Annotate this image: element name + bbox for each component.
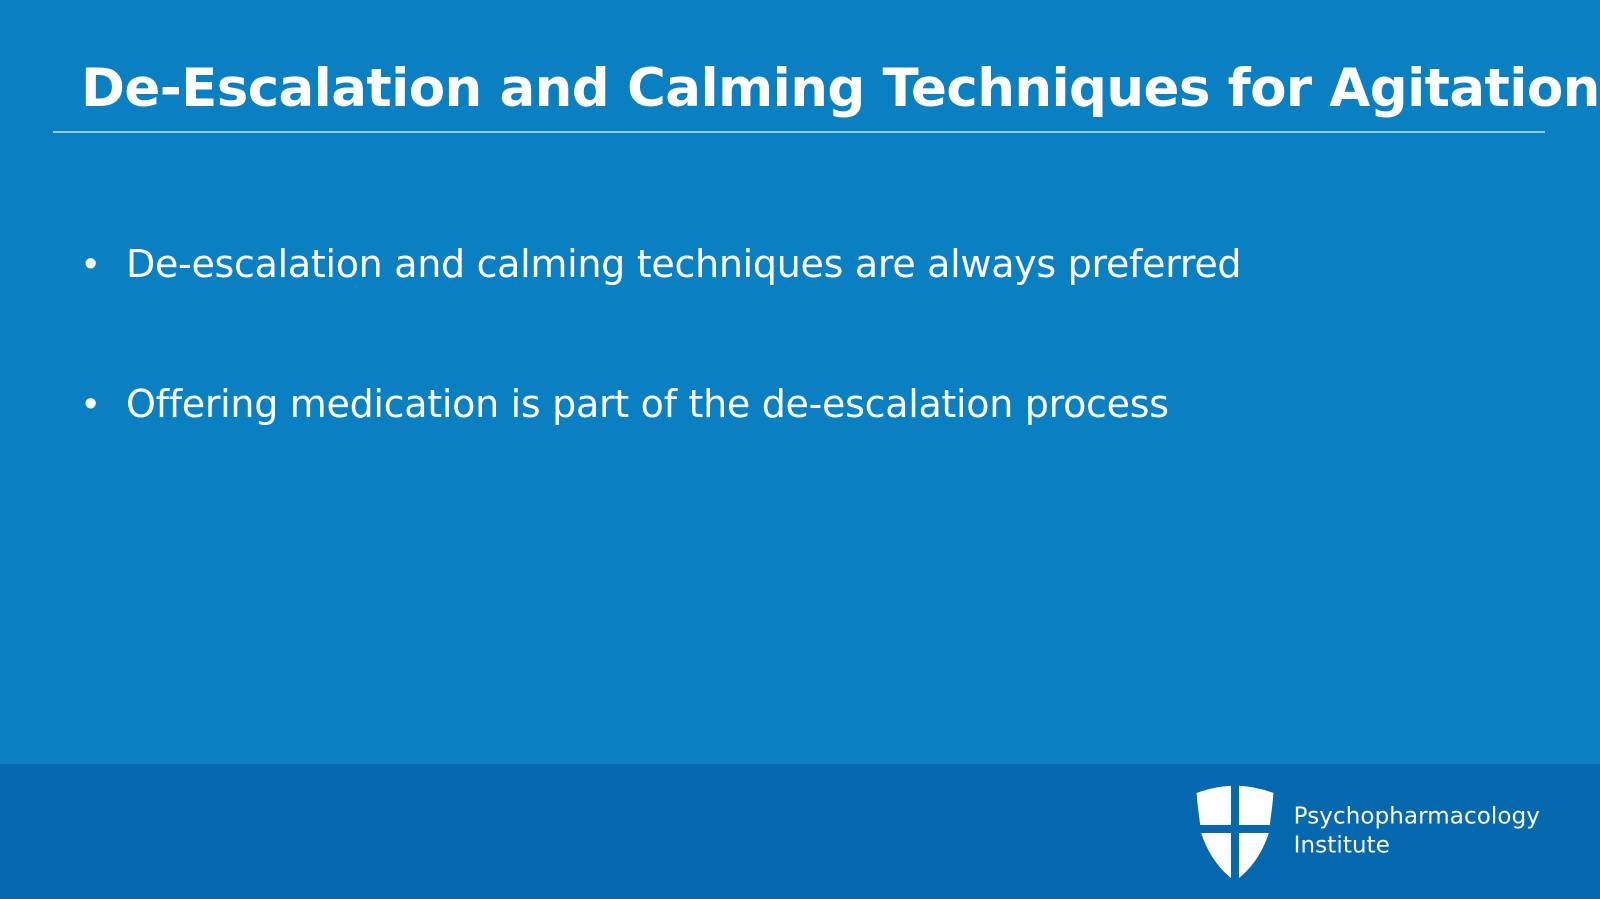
- list-item: • Offering medication is part of the de-…: [78, 378, 1538, 432]
- brand-name: Psychopharmacology Institute: [1294, 802, 1540, 861]
- bullet-list: • De-escalation and calming techniques a…: [78, 238, 1538, 518]
- footer-band: Psychopharmacology Institute: [0, 764, 1600, 899]
- list-item: • De-escalation and calming techniques a…: [78, 238, 1538, 292]
- bullet-marker-icon: •: [78, 238, 126, 292]
- brand-lockup: Psychopharmacology Institute: [1194, 783, 1540, 880]
- shield-cross-icon: [1194, 783, 1276, 880]
- bullet-text: Offering medication is part of the de-es…: [126, 378, 1538, 432]
- presentation-slide: De-Escalation and Calming Techniques for…: [0, 0, 1600, 899]
- bullet-text: De-escalation and calming techniques are…: [126, 238, 1538, 292]
- bullet-marker-icon: •: [78, 378, 126, 432]
- brand-name-line-2: Institute: [1294, 832, 1540, 861]
- title-area: De-Escalation and Calming Techniques for…: [53, 60, 1545, 133]
- title-divider: [53, 131, 1545, 133]
- page-title: De-Escalation and Calming Techniques for…: [53, 60, 1545, 117]
- brand-name-line-1: Psychopharmacology: [1294, 802, 1540, 831]
